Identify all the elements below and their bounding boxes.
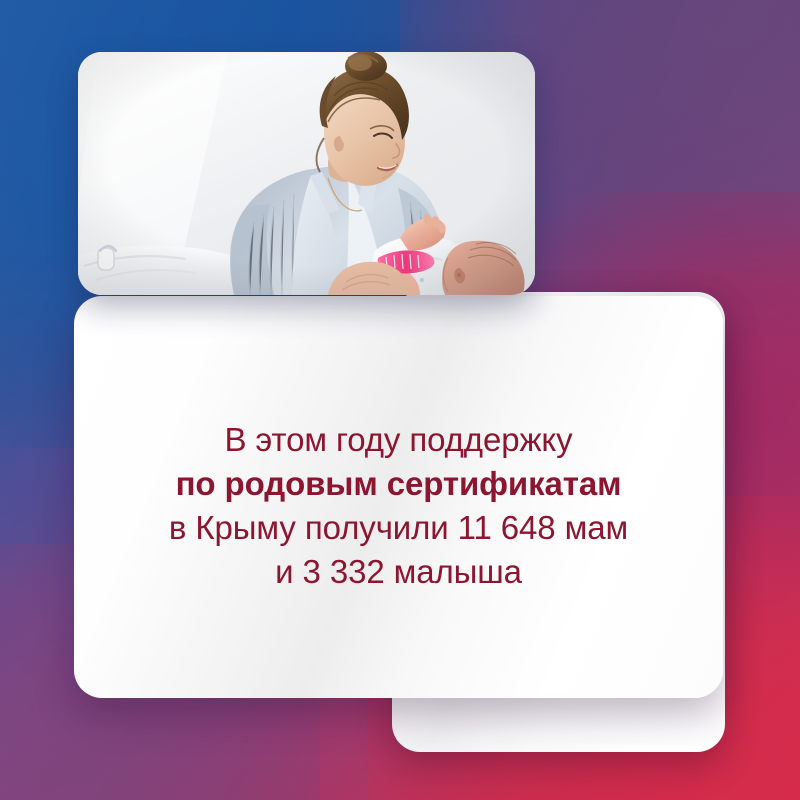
headline-line-1: В этом году поддержку: [100, 418, 697, 462]
photo-card: [78, 52, 535, 295]
headline-line-2: по родовым сертификатам: [100, 462, 697, 506]
poster-canvas: В этом году поддержку по родовым сертифи…: [0, 0, 800, 800]
headline-line-4: и 3 332 малыша: [100, 550, 697, 594]
headline-card: В этом году поддержку по родовым сертифи…: [74, 296, 723, 698]
headline-line-3: в Крыму получили 11 648 мам: [100, 506, 697, 550]
headline-text: В этом году поддержку по родовым сертифи…: [74, 418, 723, 594]
mother-and-newborn-photo: [78, 52, 535, 295]
